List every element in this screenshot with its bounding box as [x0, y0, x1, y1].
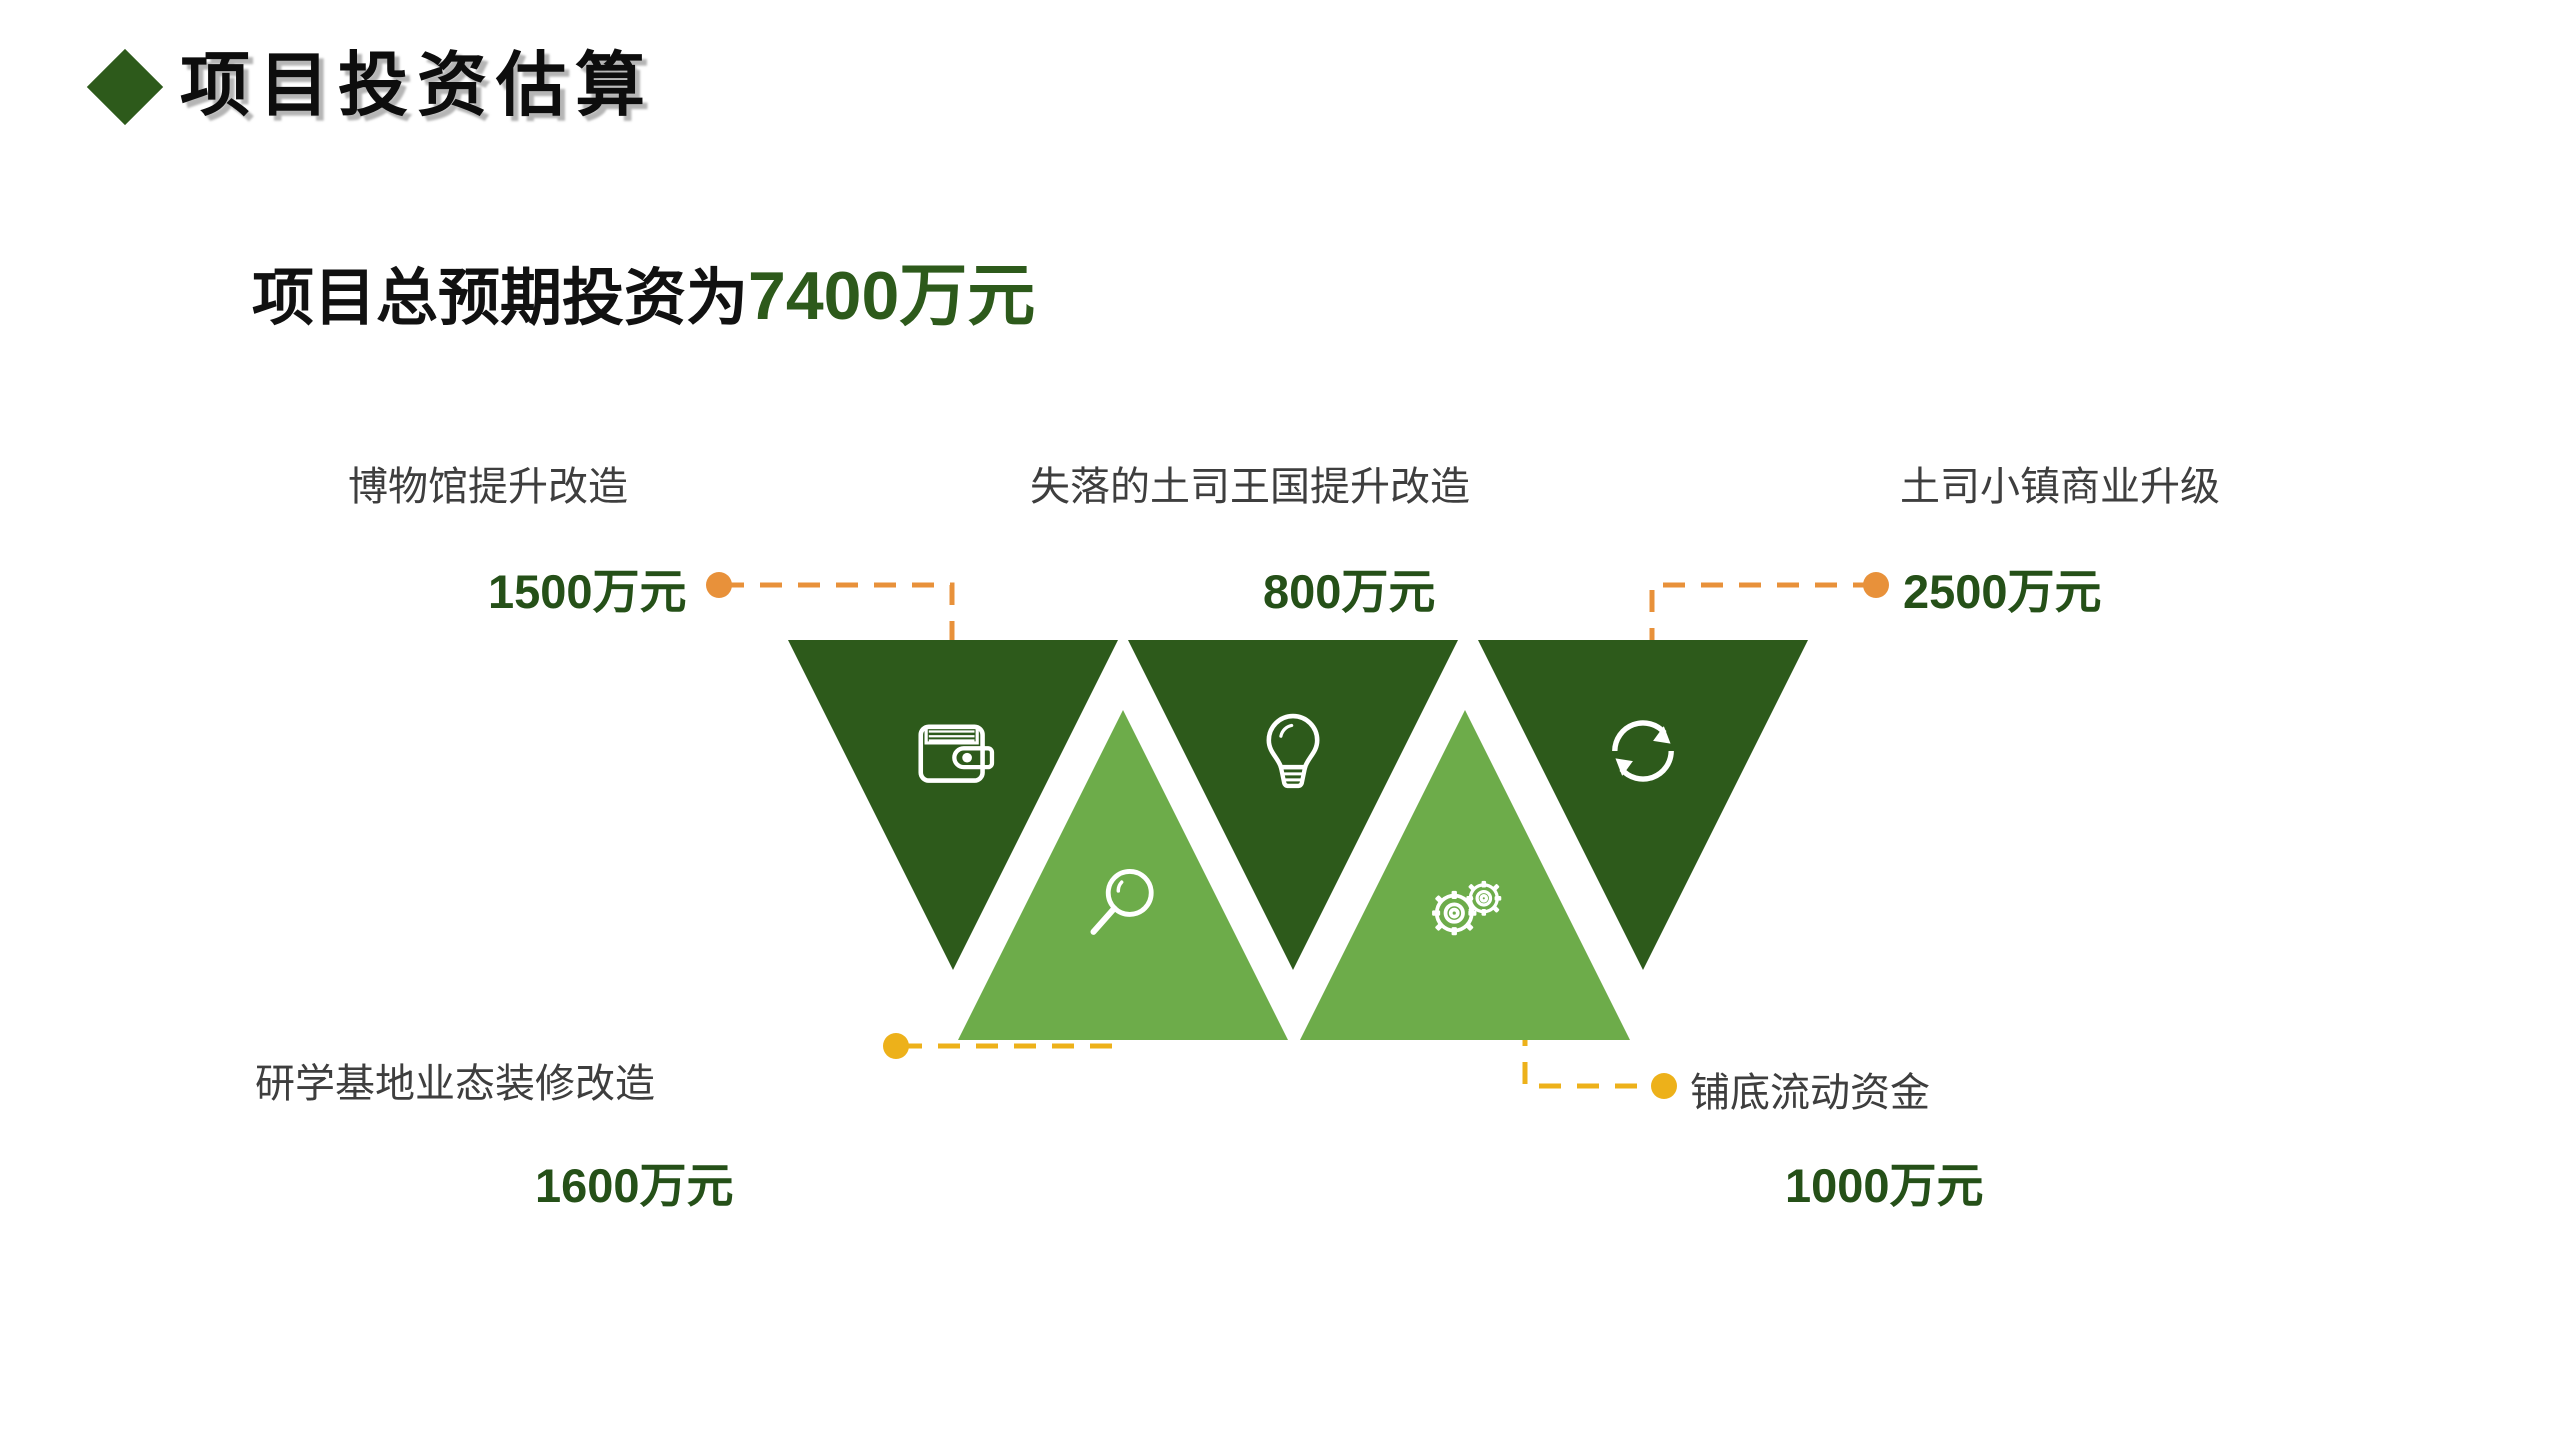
subtitle: 项目总预期投资为7400万元 [252, 262, 1035, 330]
segment-amount-research-base: 1600万元 [535, 1162, 734, 1209]
segment-triangle-tusi-town[interactable] [1478, 640, 1808, 970]
segment-amount-museum: 1500万元 [488, 568, 687, 615]
page-title: 项目投资估算 [180, 52, 654, 122]
segment-amount-tusi-town: 2500万元 [1903, 568, 2102, 615]
segment-label-working-capital: 铺底流动资金 [1690, 1073, 1930, 1113]
connector-tusi-town [1652, 572, 1889, 650]
triangle-down-shape [1478, 640, 1808, 970]
segment-label-research-base: 研学基地业态装修改造 [255, 1064, 655, 1104]
subtitle-prefix: 项目总预期投资为 [252, 264, 748, 333]
refresh-icon [1600, 708, 1686, 794]
slide-header: 项目投资估算 [98, 52, 654, 122]
diamond-icon [87, 49, 163, 125]
subtitle-total: 7400万元 [748, 258, 1035, 334]
connector-museum [706, 572, 952, 650]
segment-label-tusi-town: 土司小镇商业升级 [1900, 467, 2220, 507]
segment-amount-lost-kingdom: 800万元 [1263, 568, 1435, 615]
slide-canvas: 项目投资估算 项目总预期投资为7400万元 [0, 0, 2560, 1440]
segment-amount-working-capital: 1000万元 [1785, 1162, 1984, 1209]
segment-label-museum: 博物馆提升改造 [348, 467, 628, 507]
segment-label-lost-kingdom: 失落的土司王国提升改造 [1030, 467, 1470, 507]
